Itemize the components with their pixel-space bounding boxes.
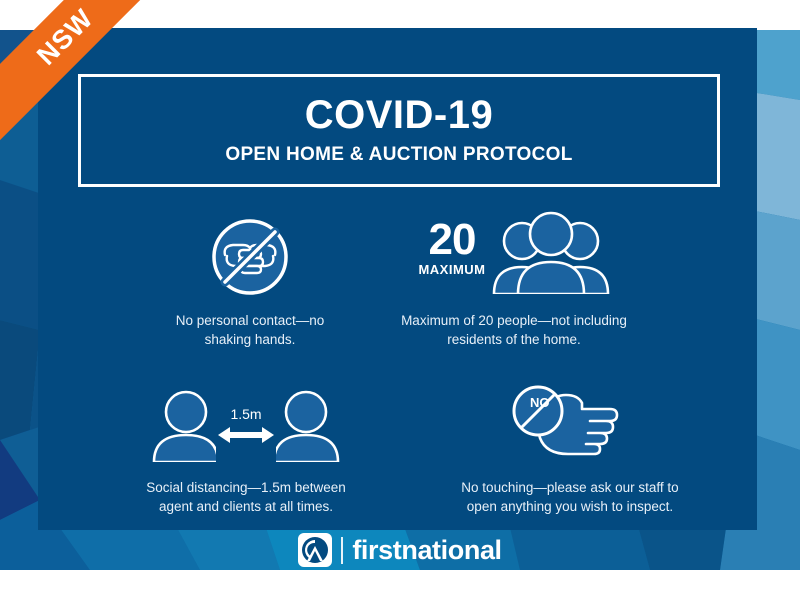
distance-measure: 1.5m [216, 406, 276, 467]
guideline-max-people: 20 MAXIMUM Maximum of 20 people—not incl… [392, 208, 636, 349]
max-people-number-block: 20 MAXIMUM [418, 218, 485, 290]
first-national-logo-icon [298, 533, 332, 567]
guideline-no-contact-text: No personal contact—no shaking hands. [160, 312, 340, 349]
footer-brand-logo: firstnational [0, 530, 800, 570]
group-of-people-icon [492, 210, 610, 299]
guideline-no-touching: NO No touching—please ask our staff to o… [452, 375, 688, 516]
guideline-social-distancing-text: Social distancing—1.5m between agent and… [143, 479, 349, 516]
no-touching-hand-icon: NO [452, 375, 688, 467]
page-subtitle: OPEN HOME & AUCTION PROTOCOL [81, 144, 717, 166]
person-right-icon [276, 388, 342, 467]
guideline-no-contact: No personal contact—no shaking hands. [160, 208, 340, 349]
social-distancing-icon-row: 1.5m [143, 375, 349, 467]
double-arrow-icon [216, 425, 276, 445]
person-left-icon [150, 388, 216, 467]
title-box: COVID-19 OPEN HOME & AUCTION PROTOCOL [78, 74, 720, 187]
guideline-social-distancing: 1.5m Social distancing—1.5m between agen… [143, 375, 349, 516]
max-people-icon-row: 20 MAXIMUM [392, 208, 636, 300]
poster-canvas: COVID-19 OPEN HOME & AUCTION PROTOCOL NS… [0, 0, 800, 600]
guideline-max-people-text: Maximum of 20 people—not including resid… [392, 312, 636, 349]
logo-divider [341, 537, 343, 564]
max-people-caption: MAXIMUM [418, 263, 485, 276]
brand-wordmark: firstnational [352, 535, 501, 566]
page-title: COVID-19 [81, 94, 717, 136]
guideline-no-touching-text: No touching—please ask our staff to open… [452, 479, 688, 516]
no-handshake-icon [160, 208, 340, 300]
max-people-number: 20 [418, 218, 485, 262]
distance-label: 1.5m [230, 406, 261, 422]
no-badge-label: NO [530, 395, 550, 410]
